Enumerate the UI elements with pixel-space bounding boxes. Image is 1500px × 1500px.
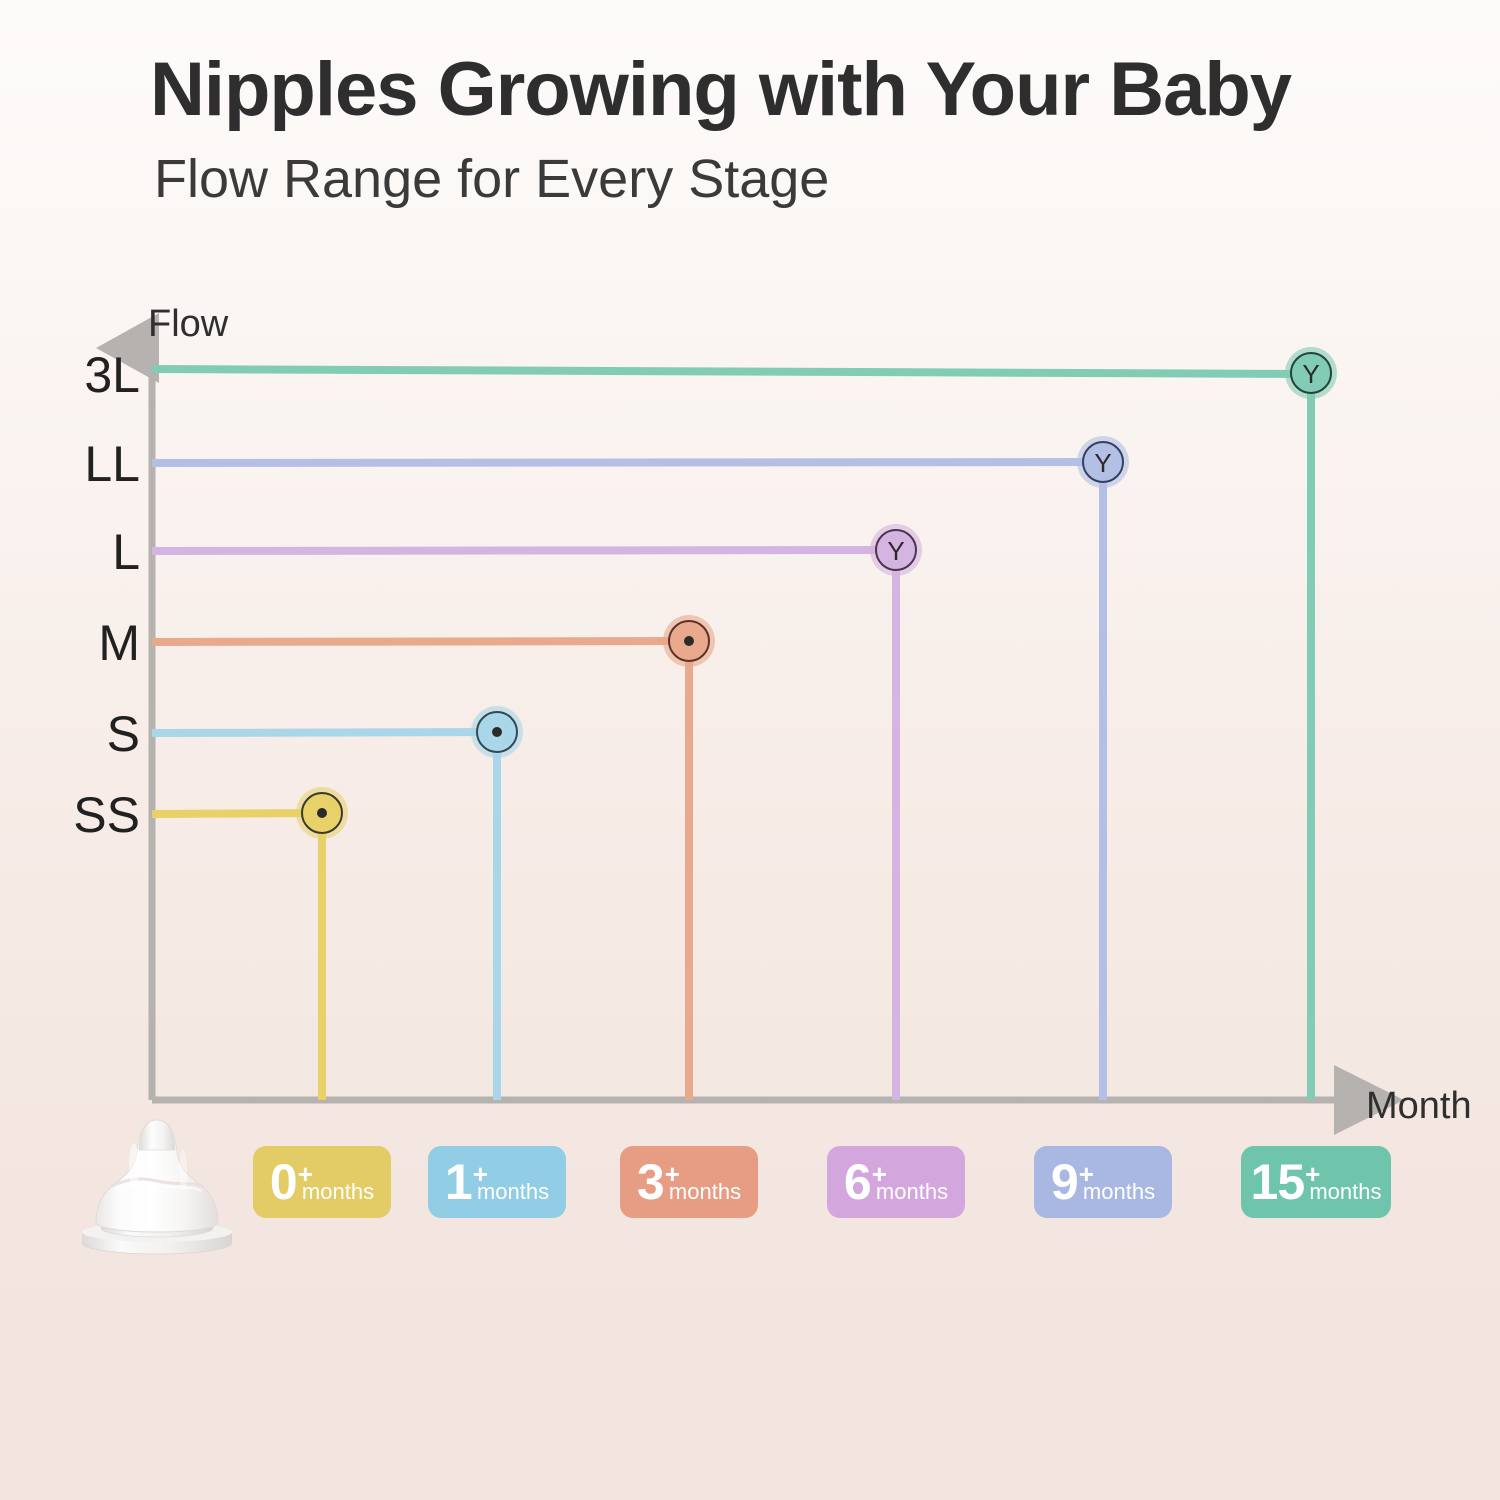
y-axis-label: Flow bbox=[148, 303, 229, 345]
y-tick-3l: 3L bbox=[84, 347, 140, 403]
y-tick-ss: SS bbox=[73, 787, 140, 843]
legend-badge-content: 6 + months bbox=[844, 1159, 948, 1205]
legend-badge-0-months[interactable]: 0 + months bbox=[253, 1146, 391, 1218]
legend-badge-content: 3 + months bbox=[637, 1159, 741, 1205]
series-s-hole-icon bbox=[492, 727, 502, 737]
series-s-horizontal-line bbox=[152, 732, 497, 733]
y-tick-labels: 3L LL L M S SS bbox=[73, 347, 140, 843]
series-ll[interactable]: Y bbox=[152, 436, 1129, 1100]
baby-bottle-nipple-image bbox=[62, 1112, 252, 1267]
series-m[interactable] bbox=[152, 615, 715, 1100]
series-l-ycut-icon: Y bbox=[887, 536, 904, 566]
y-tick-m: M bbox=[98, 615, 140, 671]
nipple-highlight-left bbox=[129, 1143, 139, 1191]
series-3l-ycut-icon: Y bbox=[1302, 359, 1319, 389]
flow-chart: Flow Month 3L LL L M S SS bbox=[0, 0, 1500, 1500]
legend-badge-1-months[interactable]: 1 + months bbox=[428, 1146, 566, 1218]
legend-badge-number: 3 bbox=[637, 1159, 664, 1205]
age-legend: 0 + months 1 + months 3 + months 6 + mon… bbox=[253, 1146, 1413, 1226]
legend-badge-number: 6 bbox=[844, 1159, 871, 1205]
x-axis-label: Month bbox=[1366, 1085, 1472, 1127]
legend-badge-content: 0 + months bbox=[270, 1159, 374, 1205]
legend-badge-content: 15 + months bbox=[1251, 1159, 1382, 1205]
legend-badge-content: 1 + months bbox=[445, 1159, 549, 1205]
legend-badge-number: 1 bbox=[445, 1159, 472, 1205]
chart-canvas: Flow Month 3L LL L M S SS bbox=[0, 0, 1500, 1500]
series-l-horizontal-line bbox=[152, 550, 896, 551]
legend-badge-15-months[interactable]: 15 + months bbox=[1241, 1146, 1391, 1218]
legend-badge-number: 15 bbox=[1251, 1159, 1305, 1205]
nipple-highlight-right bbox=[179, 1150, 187, 1190]
nipple-tip bbox=[139, 1120, 175, 1150]
y-tick-s: S bbox=[107, 706, 140, 762]
series-s[interactable] bbox=[152, 706, 523, 1100]
series-ss-hole-icon bbox=[317, 808, 327, 818]
series-m-horizontal-line bbox=[152, 641, 689, 642]
legend-badge-unit: months bbox=[1309, 1181, 1381, 1203]
legend-badge-6-months[interactable]: 6 + months bbox=[827, 1146, 965, 1218]
legend-badge-content: 9 + months bbox=[1051, 1159, 1155, 1205]
legend-badge-number: 0 bbox=[270, 1159, 297, 1205]
legend-badge-unit: months bbox=[477, 1181, 549, 1203]
legend-badge-number: 9 bbox=[1051, 1159, 1078, 1205]
chart-axes: Flow Month bbox=[148, 303, 1472, 1127]
y-tick-ll: LL bbox=[84, 436, 140, 492]
legend-badge-unit: months bbox=[876, 1181, 948, 1203]
legend-badge-unit: months bbox=[669, 1181, 741, 1203]
legend-badge-unit: months bbox=[1083, 1181, 1155, 1203]
series-m-hole-icon bbox=[684, 636, 694, 646]
series-3l-horizontal-line bbox=[152, 369, 1311, 374]
series-ss[interactable] bbox=[152, 787, 348, 1100]
legend-badge-unit: months bbox=[302, 1181, 374, 1203]
series-ll-ycut-icon: Y bbox=[1094, 448, 1111, 478]
legend-badge-9-months[interactable]: 9 + months bbox=[1034, 1146, 1172, 1218]
legend-badge-3-months[interactable]: 3 + months bbox=[620, 1146, 758, 1218]
y-tick-l: L bbox=[112, 524, 140, 580]
series-ll-horizontal-line bbox=[152, 462, 1103, 463]
